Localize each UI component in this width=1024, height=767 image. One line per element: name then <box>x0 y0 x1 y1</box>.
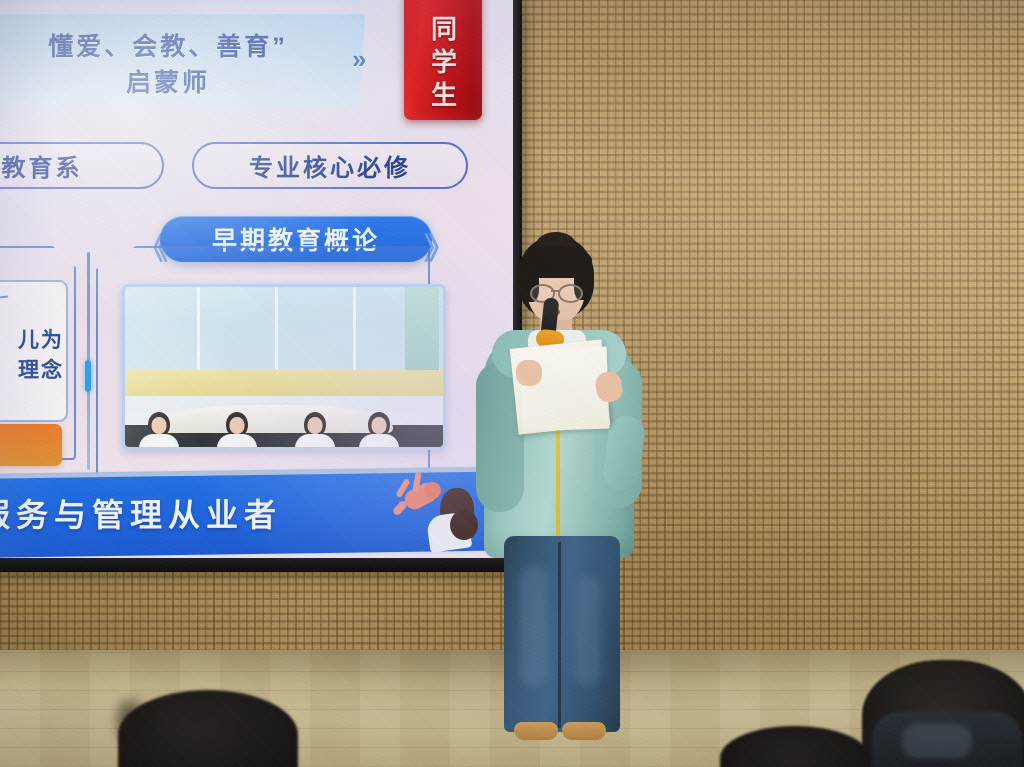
screen-bezel-bottom <box>0 558 522 572</box>
orange-highlight-box <box>0 424 62 466</box>
slide-headline: 懂爱、会教、善育” 启蒙师 <box>0 30 348 101</box>
jeans-fade-left <box>520 566 548 686</box>
illustration-child-head <box>424 482 441 499</box>
jeans-fade-right <box>574 576 600 686</box>
audience-person-right <box>862 660 1024 767</box>
photo-scene: 懂爱、会教、善育” 启蒙师 » 同学生 教育系 专业核心必修 《 早期教育概论 … <box>0 0 1024 767</box>
headline-band-upper <box>0 0 364 6</box>
pill-course-type: 专业核心必修 <box>192 142 468 189</box>
projection-screen: 懂爱、会教、善育” 启蒙师 » 同学生 教育系 专业核心必修 《 早期教育概论 … <box>0 0 522 572</box>
pill-department: 教育系 <box>0 142 164 189</box>
chevron-right-icon: » <box>352 44 362 75</box>
jeans-center-seam <box>558 542 561 728</box>
concept-card-text: 儿为 理念 <box>0 326 74 387</box>
blue-band-text: 服务与管理从业者 <box>0 490 398 536</box>
presenter-shoe-right <box>562 722 606 740</box>
presentation-slide: 懂爱、会教、善育” 启蒙师 » 同学生 教育系 专业核心必修 《 早期教育概论 … <box>0 0 513 560</box>
glasses-bridge <box>551 290 560 292</box>
presenter-shoe-left <box>514 722 558 740</box>
red-vertical-badge: 同学生 <box>404 0 482 120</box>
divider-accent-dot <box>85 360 91 392</box>
slide-photo-classroom <box>122 284 446 450</box>
glasses-lens-right <box>558 284 583 303</box>
presenter <box>470 236 690 767</box>
red-badge-text: 同学生 <box>425 15 462 114</box>
photo-screen-glare <box>125 287 443 447</box>
presenter-hand-left <box>516 360 542 386</box>
